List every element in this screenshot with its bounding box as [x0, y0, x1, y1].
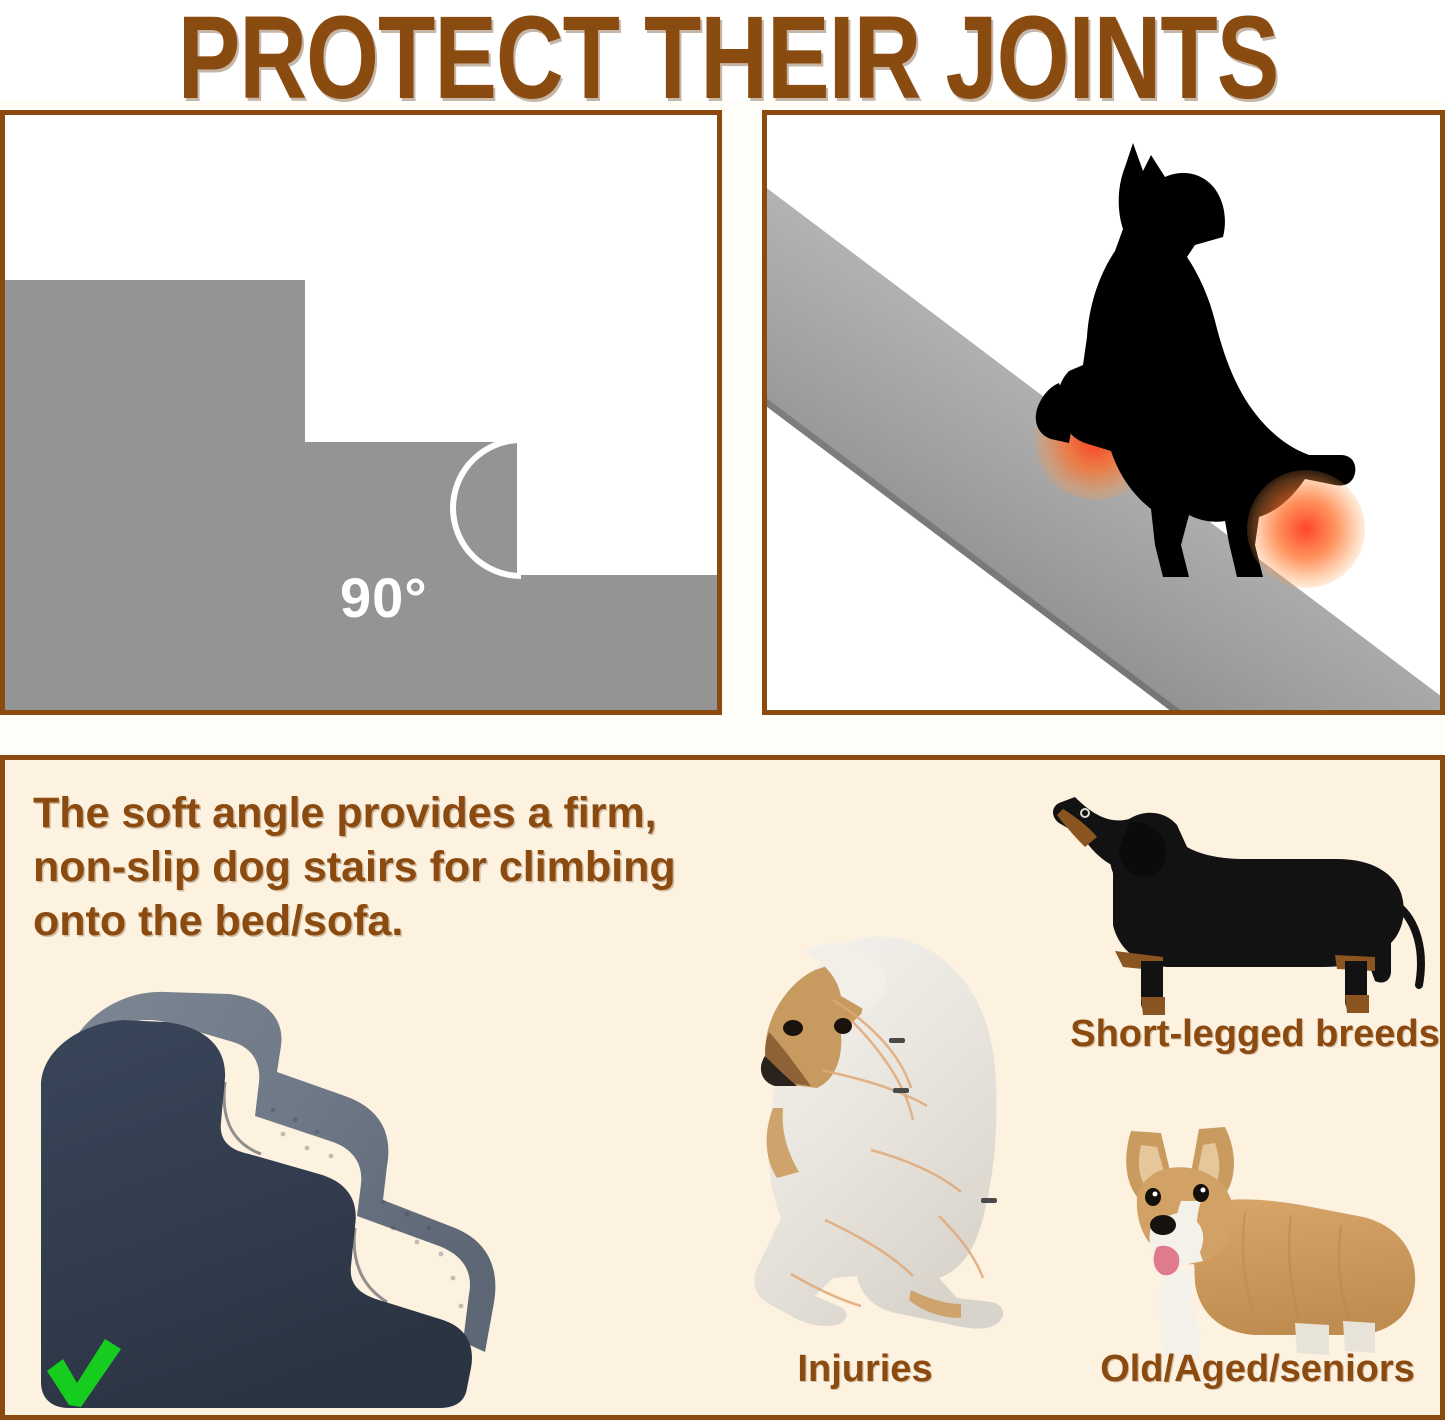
check-mark-icon: [43, 1335, 123, 1409]
caption-old-aged-seniors: Old/Aged/seniors: [1065, 1348, 1445, 1391]
photo-dachshund: [1045, 775, 1445, 1025]
photo-injured-dog: [665, 820, 1065, 1365]
page-title: PROTECT THEIR JOINTS: [4, 0, 1445, 126]
panel-slippery-easy-to-fall: Slippery, easy to fall: [762, 110, 1445, 715]
photo-corgi: [1095, 1105, 1445, 1370]
stair-step-1: [5, 280, 305, 715]
panel-difficulty-of-climbing: 90° Difficulty of climbing: [0, 110, 722, 715]
product-infographic: PROTECT THEIR JOINTS 90° Difficulty of c…: [0, 0, 1445, 1420]
title-bar: PROTECT THEIR JOINTS: [0, 0, 1445, 100]
stair-step-3: [517, 575, 722, 715]
caption-short-legged-breeds: Short-legged breeds: [1065, 1012, 1445, 1057]
panel-solution: The soft angle provides a firm, non-slip…: [0, 755, 1445, 1420]
solution-headline: The soft angle provides a firm, non-slip…: [33, 786, 733, 949]
caption-injuries: Injuries: [695, 1348, 1035, 1391]
angle-label: 90°: [340, 570, 428, 626]
joint-pain-glow-rear: [1247, 470, 1365, 588]
